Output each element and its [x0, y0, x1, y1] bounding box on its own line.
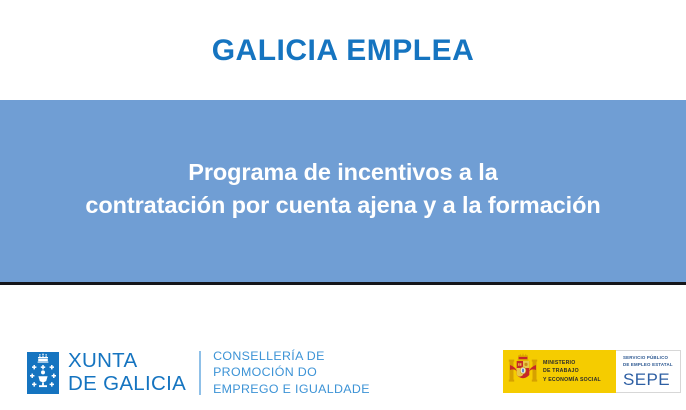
- ministerio-logo: MINISTERIO DE TRABAJO Y ECONOMÍA SOCIAL: [503, 350, 616, 393]
- sepe-name-line-2: DE EMPLEO ESTATAL: [623, 362, 680, 369]
- banner-line-2: contratación por cuenta ajena y a la for…: [85, 189, 600, 222]
- page-footer: XUNTA DE GALICIA CONSELLERÍA DE PROMOCIÓ…: [0, 288, 686, 410]
- ministerio-line-2: DE TRABAJO: [543, 367, 601, 375]
- ministerio-line-1: MINISTERIO: [543, 359, 601, 367]
- xunta-wordmark: XUNTA DE GALICIA: [68, 350, 186, 394]
- conselleria-wordmark: CONSELLERÍA DE PROMOCIÓN DO EMPREGO E IG…: [213, 348, 370, 397]
- banner-line-1: Programa de incentivos a la: [85, 156, 600, 189]
- conselleria-line-2: PROMOCIÓN DO: [213, 364, 370, 380]
- ministerio-line-3: Y ECONOMÍA SOCIAL: [543, 376, 601, 384]
- government-logos: MINISTERIO DE TRABAJO Y ECONOMÍA SOCIAL …: [503, 350, 681, 393]
- galicia-coat-of-arms-icon: [27, 352, 59, 394]
- sepe-acronym: SEPE: [623, 371, 680, 388]
- sepe-name-line-1: SERVICIO PÚBLICO: [623, 355, 680, 362]
- logo-divider: [199, 351, 201, 395]
- xunta-de-galicia-logo: XUNTA DE GALICIA CONSELLERÍA DE PROMOCIÓ…: [27, 348, 370, 397]
- spain-coat-of-arms-icon: [508, 351, 538, 392]
- xunta-wordmark-line-2: DE GALICIA: [68, 373, 186, 395]
- page-title: GALICIA EMPLEA: [212, 36, 475, 66]
- sepe-full-name: SERVICIO PÚBLICO DE EMPLEO ESTATAL: [623, 355, 680, 368]
- xunta-wordmark-line-1: XUNTA: [68, 350, 186, 372]
- conselleria-line-3: EMPREGO E IGUALDADE: [213, 381, 370, 397]
- conselleria-line-1: CONSELLERÍA DE: [213, 348, 370, 364]
- ministerio-text: MINISTERIO DE TRABAJO Y ECONOMÍA SOCIAL: [543, 359, 601, 383]
- sepe-logo: SERVICIO PÚBLICO DE EMPLEO ESTATAL SEPE: [616, 350, 681, 393]
- banner-text-block: Programa de incentivos a la contratación…: [85, 156, 600, 227]
- program-banner: Programa de incentivos a la contratación…: [0, 100, 686, 285]
- page-header: GALICIA EMPLEA: [0, 0, 686, 100]
